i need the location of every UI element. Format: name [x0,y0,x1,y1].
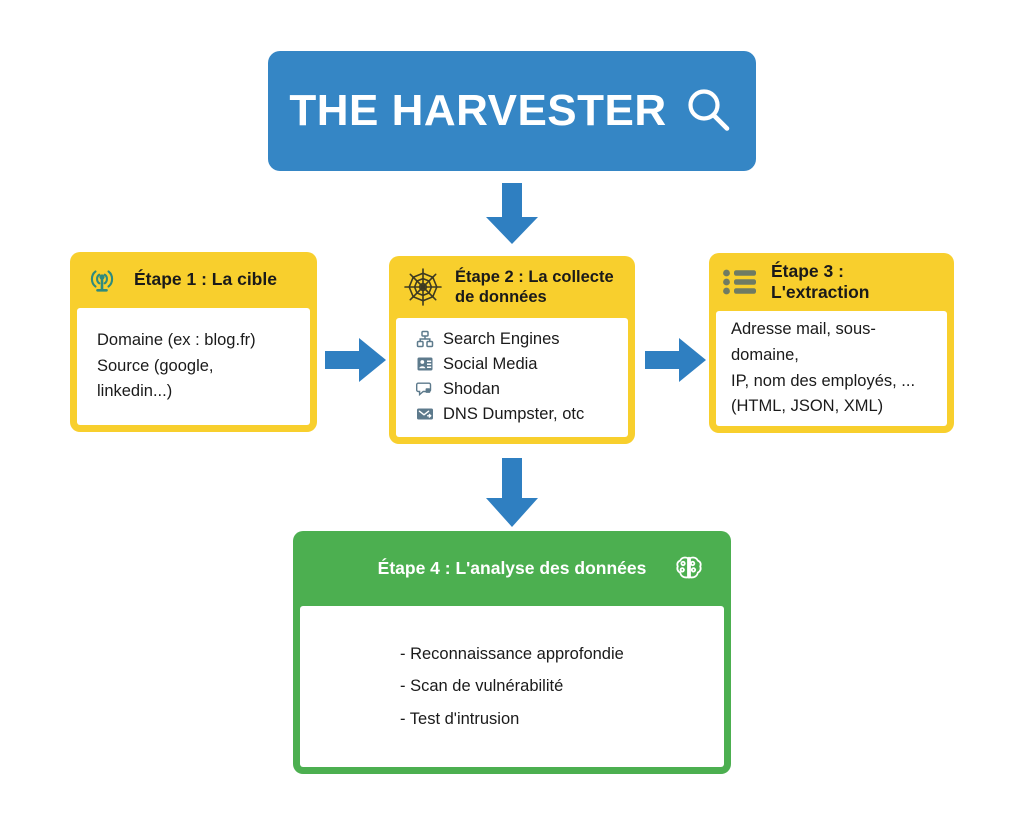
bullet-list-icon [721,266,759,298]
step-3-line-2: IP, nom des employés, ... [731,369,932,395]
list-item[interactable]: Social Media [416,355,628,373]
app-title-banner: THE HARVESTER [268,51,756,171]
step-2-body: Search Engines Social Media Shod [396,318,628,437]
dns-dumpster-icon [416,405,434,423]
tool-label: Shodan [443,380,500,398]
magnifier-search-icon [683,85,735,137]
step-1-card[interactable]: Étape 1 : La cible Domaine (ex : blog.fr… [70,252,317,432]
step-2-title: Étape 2 : La collecte de données [455,267,625,307]
step-1-body: Domaine (ex : blog.fr) Source (google, l… [77,308,310,425]
step-4-title: Étape 4 : L'analyse des données [378,558,647,579]
step-4-analysis-list: - Reconnaissance approfondie - Scan de v… [400,638,724,735]
step-3-title: Étape 3 : L'extraction [771,261,944,304]
step-4-header: Étape 4 : L'analyse des données [293,531,731,606]
step-1-line-1: Domaine (ex : blog.fr) [97,328,290,354]
arrow-step2-to-step3 [645,337,707,383]
shodan-icon [416,380,434,398]
list-item[interactable]: DNS Dumpster, otc [416,405,628,423]
spider-web-icon [401,265,445,309]
list-item[interactable]: Shodan [416,380,628,398]
step-4-body: - Reconnaissance approfondie - Scan de v… [300,606,724,767]
step-3-line-1: Adresse mail, sous-domaine, [731,317,932,368]
broadcast-antenna-icon [84,265,120,295]
step-3-body: Adresse mail, sous-domaine, IP, nom des … [716,311,947,426]
step-1-line-2: Source (google, linkedin...) [97,354,290,405]
step-2-card[interactable]: Étape 2 : La collecte de données Search … [389,256,635,444]
arrow-title-to-step2 [483,183,541,245]
arrow-step1-to-step2 [325,337,387,383]
step-4-card[interactable]: Étape 4 : L'analyse des données - Reconn… [293,531,731,774]
step-3-card[interactable]: Étape 3 : L'extraction Adresse mail, sou… [709,253,954,433]
step-2-tool-list: Search Engines Social Media Shod [416,330,628,424]
social-media-icon [416,355,434,373]
tool-label: Social Media [443,355,537,373]
tool-label: Search Engines [443,330,560,348]
step-1-header: Étape 1 : La cible [70,252,317,308]
list-item: - Test d'intrusion [400,703,724,735]
step-3-header: Étape 3 : L'extraction [709,253,954,311]
page-title: THE HARVESTER [289,89,666,133]
list-item: - Reconnaissance approfondie [400,638,724,670]
arrow-step2-to-step4 [483,458,541,528]
brain-icon [673,553,705,585]
tool-label: DNS Dumpster, otc [443,405,584,423]
search-engines-icon [416,330,434,348]
list-item[interactable]: Search Engines [416,330,628,348]
list-item: - Scan de vulnérabilité [400,670,724,702]
step-2-header: Étape 2 : La collecte de données [389,256,635,318]
step-3-line-3: (HTML, JSON, XML) [731,394,932,420]
step-1-title: Étape 1 : La cible [134,269,277,290]
